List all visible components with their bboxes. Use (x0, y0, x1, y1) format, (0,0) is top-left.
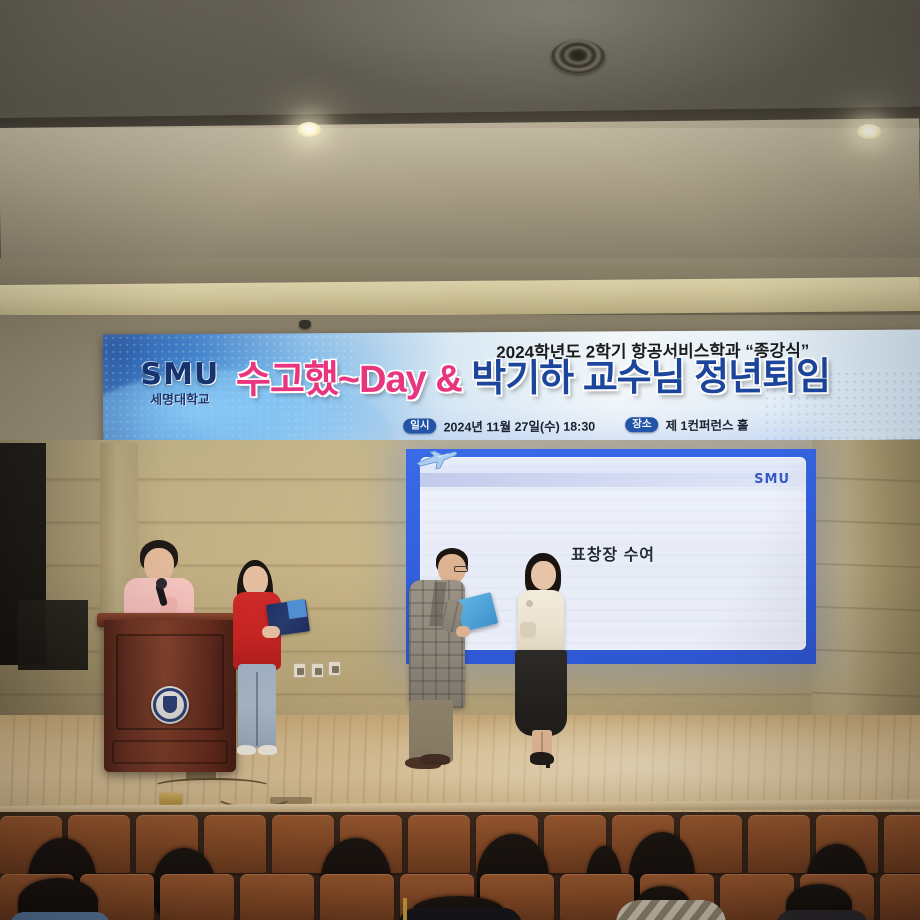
wall-outlet-1 (293, 663, 306, 678)
banner-place-pill: 장소 (625, 417, 658, 433)
recipient-hands (520, 622, 536, 638)
assistant-shoe-left (237, 745, 256, 755)
downlight-icon-right (857, 124, 881, 139)
audience-shoulder-front-4 (776, 910, 868, 920)
banner-date-pill: 일시 (403, 418, 436, 434)
recipient-name-badge (526, 600, 533, 607)
recipient-head (531, 561, 556, 590)
mc-head (144, 548, 174, 582)
wall-outlet-2 (311, 663, 324, 678)
banner-date-text: 2024년 11월 27일(수) 18:30 (444, 416, 596, 436)
seat-front-5 (320, 874, 394, 920)
event-banner: SMU 세명대학교 2024학년도 2학기 항공서비스학과 “종강식” 수고했~… (103, 329, 920, 444)
assistant-shoe-right (258, 745, 277, 755)
podium (104, 620, 236, 772)
podium-crest-icon (151, 686, 189, 724)
downlight-icon-left (297, 122, 321, 137)
seat-back-r1-12 (748, 815, 810, 873)
smu-logo-name: 세명대학교 (125, 393, 235, 407)
seat-back-r1-14 (884, 815, 920, 873)
slide-title-text: 표창장 수여 (420, 541, 806, 565)
banner-title-blue: 박기하 교수님 정년퇴임 (471, 356, 830, 400)
smu-logo-mark: SMU (125, 360, 235, 391)
seat-front-12 (880, 874, 920, 920)
recipient-black-skirt (515, 650, 567, 736)
professor-trousers (409, 700, 453, 762)
airplane-icon (414, 449, 460, 471)
professor-shoe-right (420, 754, 450, 765)
professor-hand (456, 626, 470, 637)
audience-handheld-stick (403, 898, 407, 920)
audience-shoulder-front-2 (398, 908, 522, 920)
audience-scarf-front-3 (616, 900, 726, 920)
recipient-shoe (530, 752, 554, 765)
security-camera-icon (299, 320, 311, 329)
banner-main-title: 수고했~Day & 박기하 교수님 정년퇴임 (236, 357, 920, 402)
slide-header-band (420, 473, 806, 487)
seat-front-3 (160, 874, 234, 920)
seat-front-4 (240, 874, 314, 920)
audience-seating (0, 812, 920, 920)
seat-back-r1-4 (204, 815, 266, 873)
floor-connector-box (160, 793, 182, 805)
ceiling-vent-icon (551, 40, 605, 74)
assistant-hands (262, 626, 280, 638)
microphone-head-icon (156, 578, 167, 589)
wall-outlet-3 (328, 661, 341, 676)
seat-back-r1-7 (408, 815, 470, 873)
glasses-icon (454, 566, 468, 572)
recipient-heel (546, 758, 550, 768)
banner-details: 일시 2024년 11월 27일(수) 18:30 장소 제 1컨퍼런스 홀 (403, 413, 920, 435)
podium-base-molding (112, 740, 228, 764)
banner-university-logo: SMU 세명대학교 (125, 360, 235, 407)
slide-smu-logo: SMU (754, 472, 790, 487)
banner-place-text: 제 1컨퍼런스 홀 (665, 415, 748, 435)
auditorium-photo: SMU 세명대학교 2024학년도 2학기 항공서비스학과 “종강식” 수고했~… (0, 0, 920, 920)
audience-shoulder-front-1 (10, 912, 110, 920)
banner-title-pink: 수고했~Day & (236, 358, 462, 401)
navy-folder-insert (287, 599, 307, 619)
assistant-leg-seam (256, 672, 258, 746)
